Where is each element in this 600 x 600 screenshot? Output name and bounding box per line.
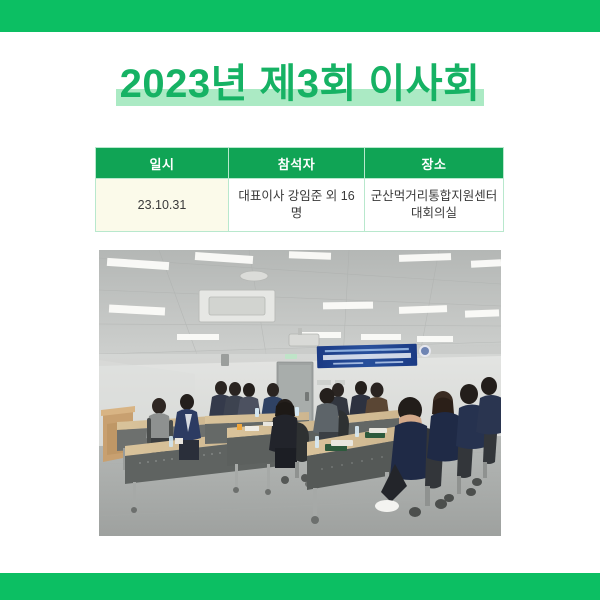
bottom-green-band [0, 573, 600, 600]
cell-attendees: 대표이사 강임준 외 16명 [229, 179, 365, 232]
title-text: 2023년 제3회 이사회 [120, 58, 481, 110]
title-inner: 2023년 제3회 이사회 [116, 58, 485, 110]
cell-date: 23.10.31 [96, 179, 229, 232]
table-header-place: 장소 [365, 148, 504, 179]
cell-place-line2: 대회의실 [411, 206, 457, 220]
top-green-band [0, 0, 600, 32]
table-header-date: 일시 [96, 148, 229, 179]
meeting-photo-illustration [99, 250, 501, 536]
cell-place-line1: 군산먹거리통합지원센터 [371, 189, 498, 203]
cell-place: 군산먹거리통합지원센터 대회의실 [365, 179, 504, 232]
table-header-attendees: 참석자 [229, 148, 365, 179]
meeting-info-table: 일시 참석자 장소 23.10.31 대표이사 강임준 외 16명 군산먹거리통… [95, 147, 504, 232]
page-title: 2023년 제3회 이사회 [0, 58, 600, 116]
poster-page: 2023년 제3회 이사회 일시 참석자 장소 23.10.31 대표이사 강임… [0, 0, 600, 600]
table-row: 23.10.31 대표이사 강임준 외 16명 군산먹거리통합지원센터 대회의실 [96, 179, 504, 232]
meeting-photo [99, 250, 501, 536]
table-header-row: 일시 참석자 장소 [96, 148, 504, 179]
